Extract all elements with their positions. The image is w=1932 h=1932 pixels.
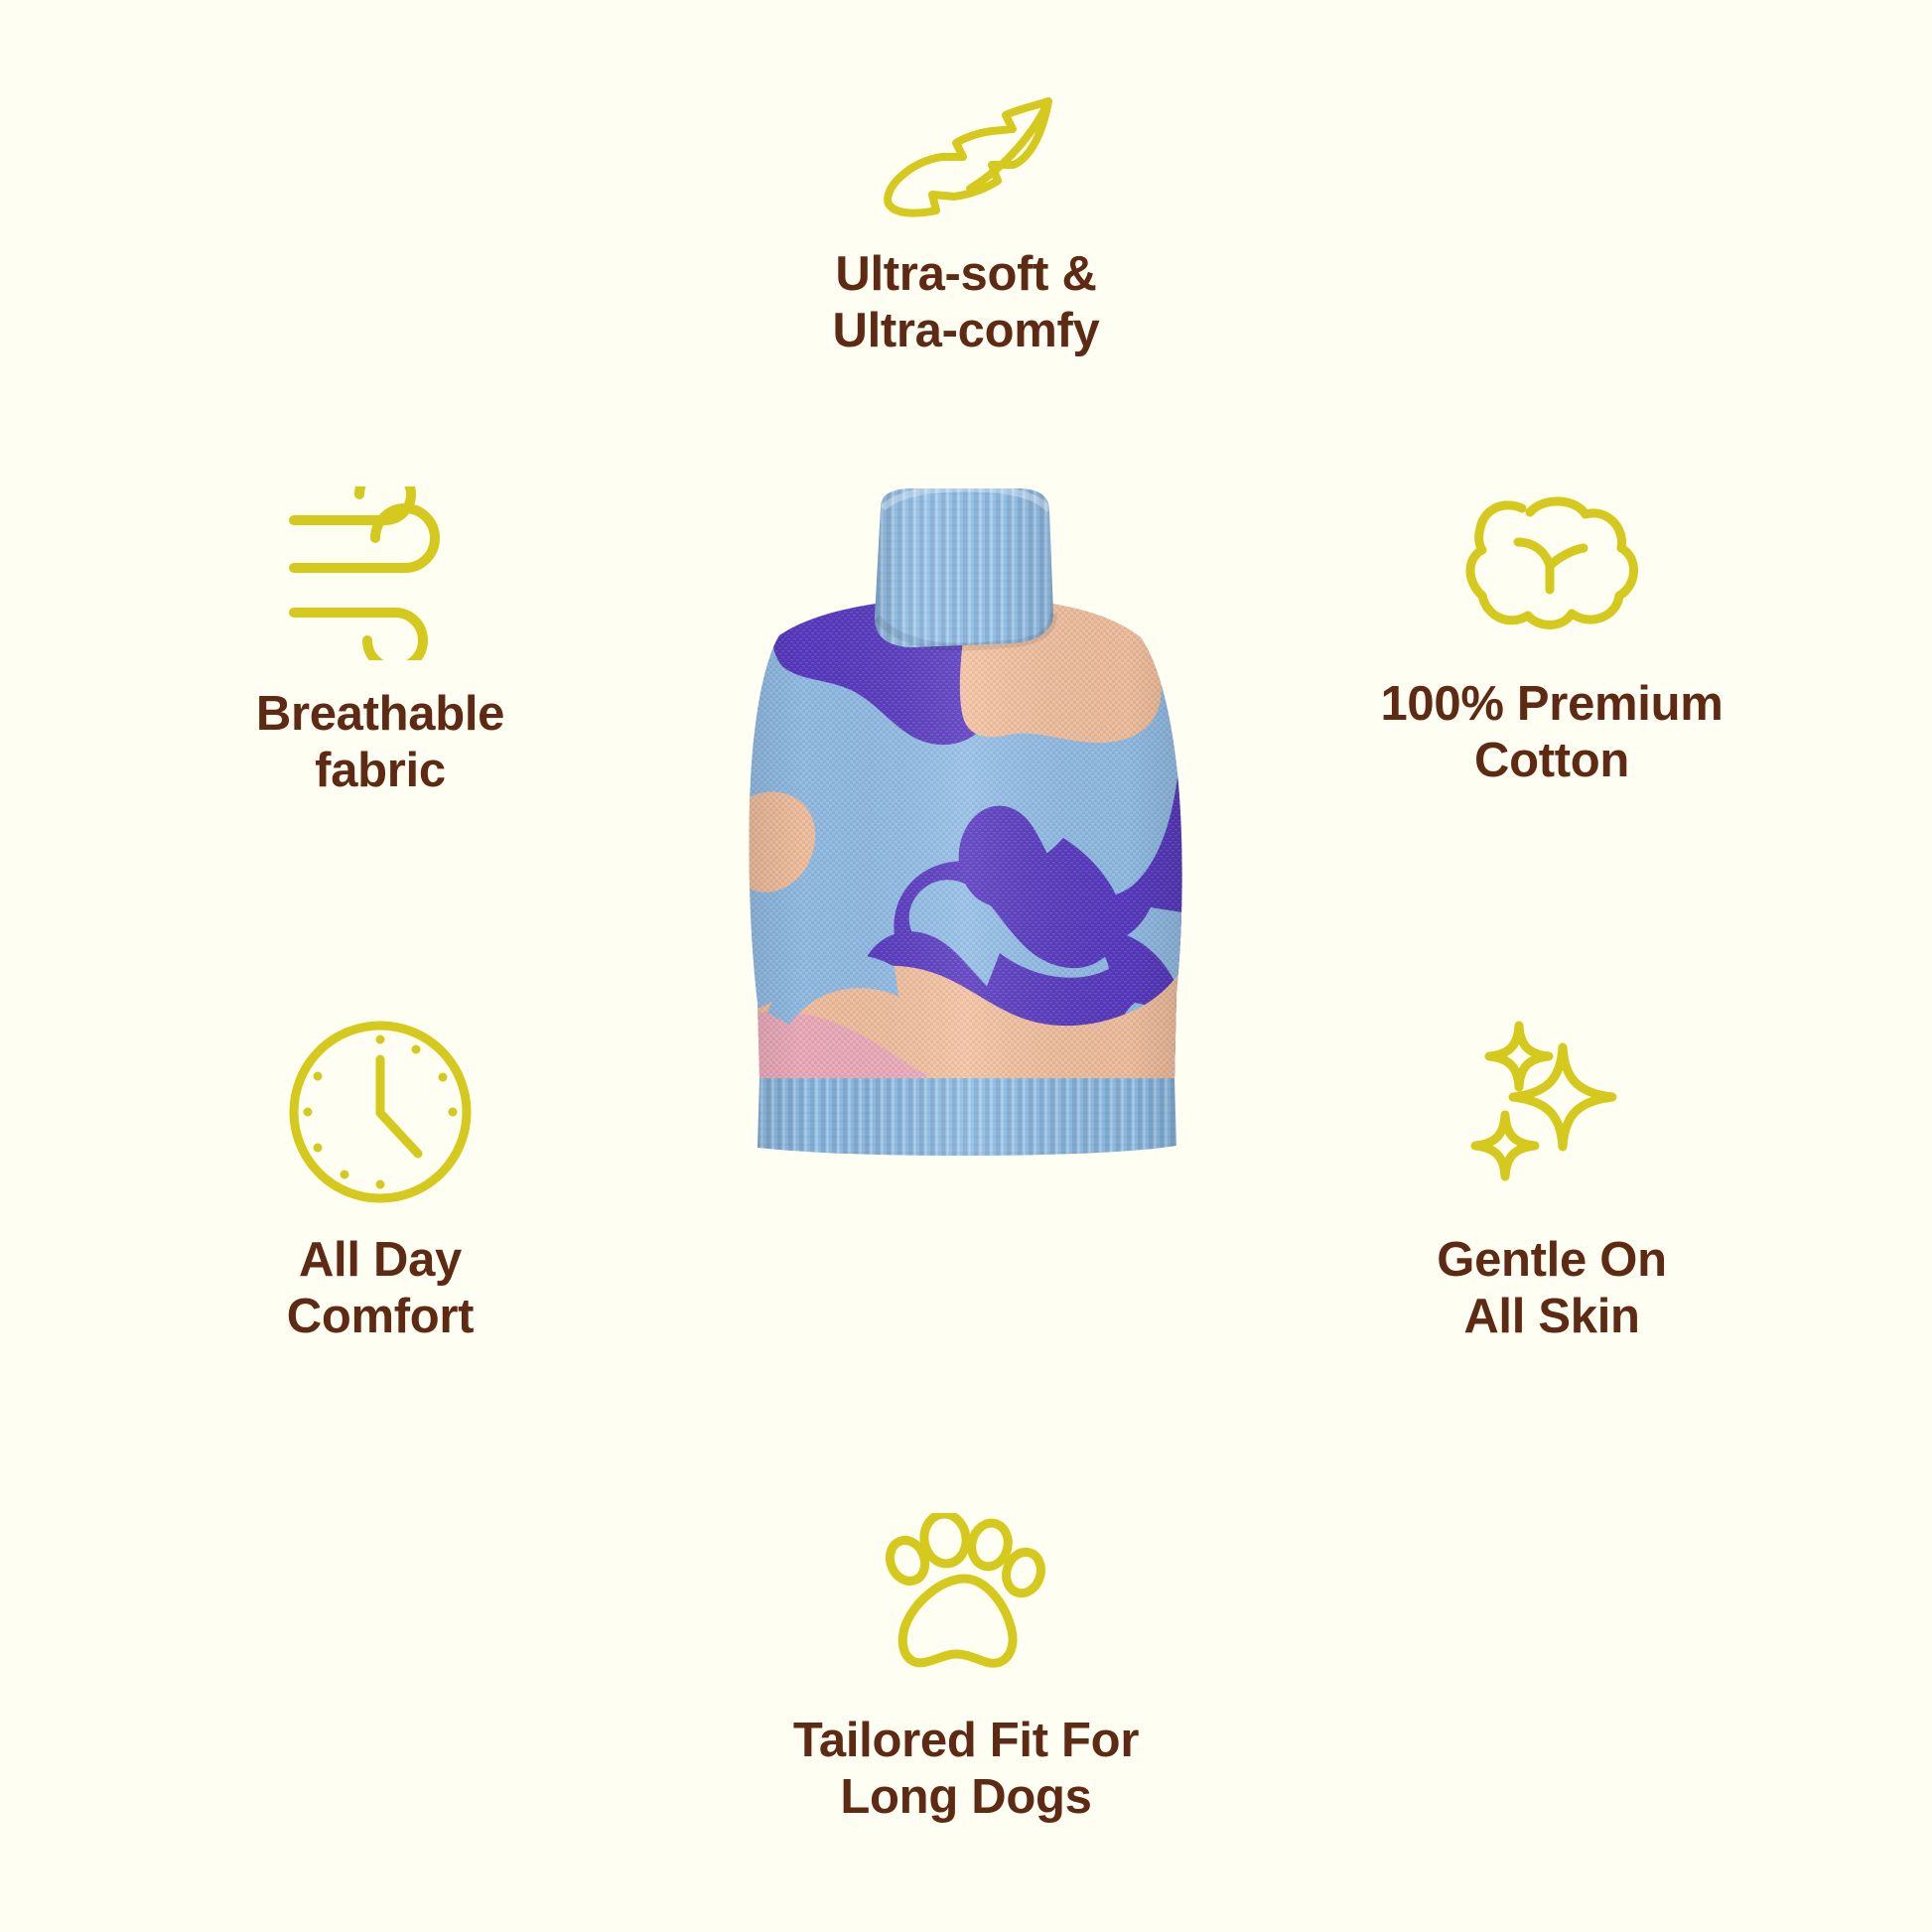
wind-icon [286,486,475,660]
feature-caption: Breathable fabric [256,686,504,800]
feature-caption: All Day Comfort [287,1232,474,1346]
sweater-body [728,586,1204,1162]
infographic-canvas: Ultra-soft & Ultra-comfy Breathable fabr… [0,0,1932,1932]
clock-icon [286,1018,475,1206]
feature-gentle-on-skin: Gentle On All Skin [1234,1018,1869,1346]
feature-caption: Tailored Fit For Long Dogs [793,1713,1139,1827]
product-image-dog-sweater [668,486,1264,1162]
feather-icon [867,91,1065,220]
paw-print-icon [877,1513,1055,1687]
feature-ultra-soft: Ultra-soft & Ultra-comfy [619,91,1313,360]
feature-all-day-comfort: All Day Comfort [63,1018,698,1346]
feature-premium-cotton: 100% Premium Cotton [1234,486,1869,790]
feature-caption: 100% Premium Cotton [1380,676,1723,790]
feature-caption: Ultra-soft & Ultra-comfy [833,246,1100,360]
feature-caption: Gentle On All Skin [1437,1232,1666,1346]
cotton-boll-icon [1452,486,1651,650]
feature-breathable-fabric: Breathable fabric [63,486,698,800]
sparkles-icon [1457,1018,1646,1206]
feature-tailored-fit: Tailored Fit For Long Dogs [619,1513,1313,1827]
